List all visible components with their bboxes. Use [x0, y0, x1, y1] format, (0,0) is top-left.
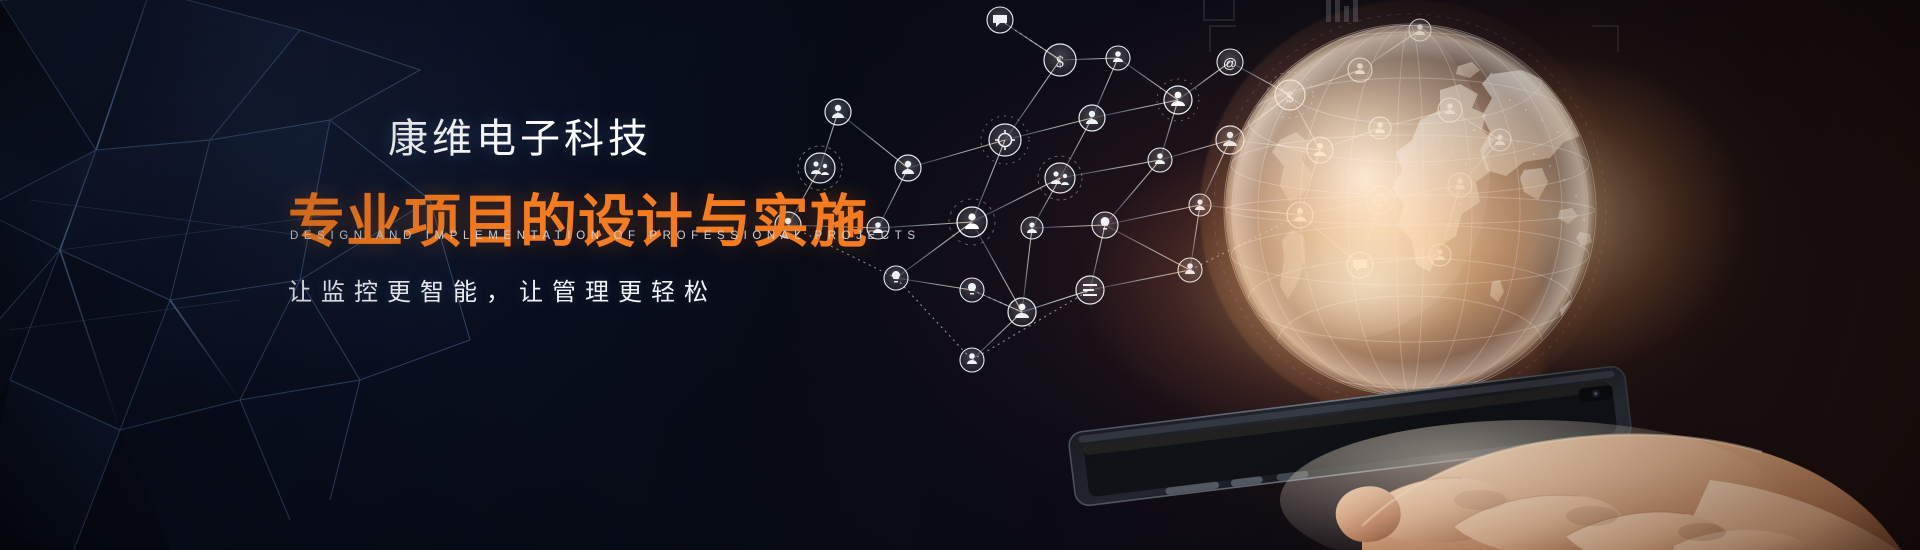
hand-holding-smartphone — [1010, 330, 1920, 550]
svg-text:$: $ — [1056, 54, 1064, 71]
tagline: 让监控更智能，让管理更轻松 — [288, 272, 717, 307]
hero-text-block: 康维电子科技 专业项目的设计与实施 DESIGN AND IMPLEMENTAT… — [0, 0, 820, 550]
hero-banner: $ — [0, 0, 1920, 550]
english-subtitle: DESIGN AND IMPLEMENTATION OF PROFESSIONA… — [290, 230, 921, 242]
network-node-gear — [989, 124, 1021, 156]
network-node-dollar: $ — [1044, 44, 1076, 76]
network-node-lightbulb — [960, 278, 984, 302]
network-node-user — [1021, 217, 1043, 239]
network-node-list — [1076, 276, 1104, 304]
network-node-user — [1008, 298, 1036, 326]
network-node-group — [1045, 163, 1075, 193]
network-node-user — [1106, 46, 1130, 70]
company-title: 康维电子科技 — [388, 106, 652, 164]
page-title: 专业项目的设计与实施 — [288, 176, 868, 258]
network-node-user — [960, 348, 984, 372]
network-node-user — [825, 99, 851, 125]
network-node-user — [957, 207, 987, 237]
network-node-user — [895, 155, 921, 181]
network-node-lightbulb — [1092, 212, 1118, 238]
network-node-chat — [987, 7, 1013, 33]
network-node-user — [1079, 105, 1105, 131]
network-node-lightbulb — [884, 266, 908, 290]
